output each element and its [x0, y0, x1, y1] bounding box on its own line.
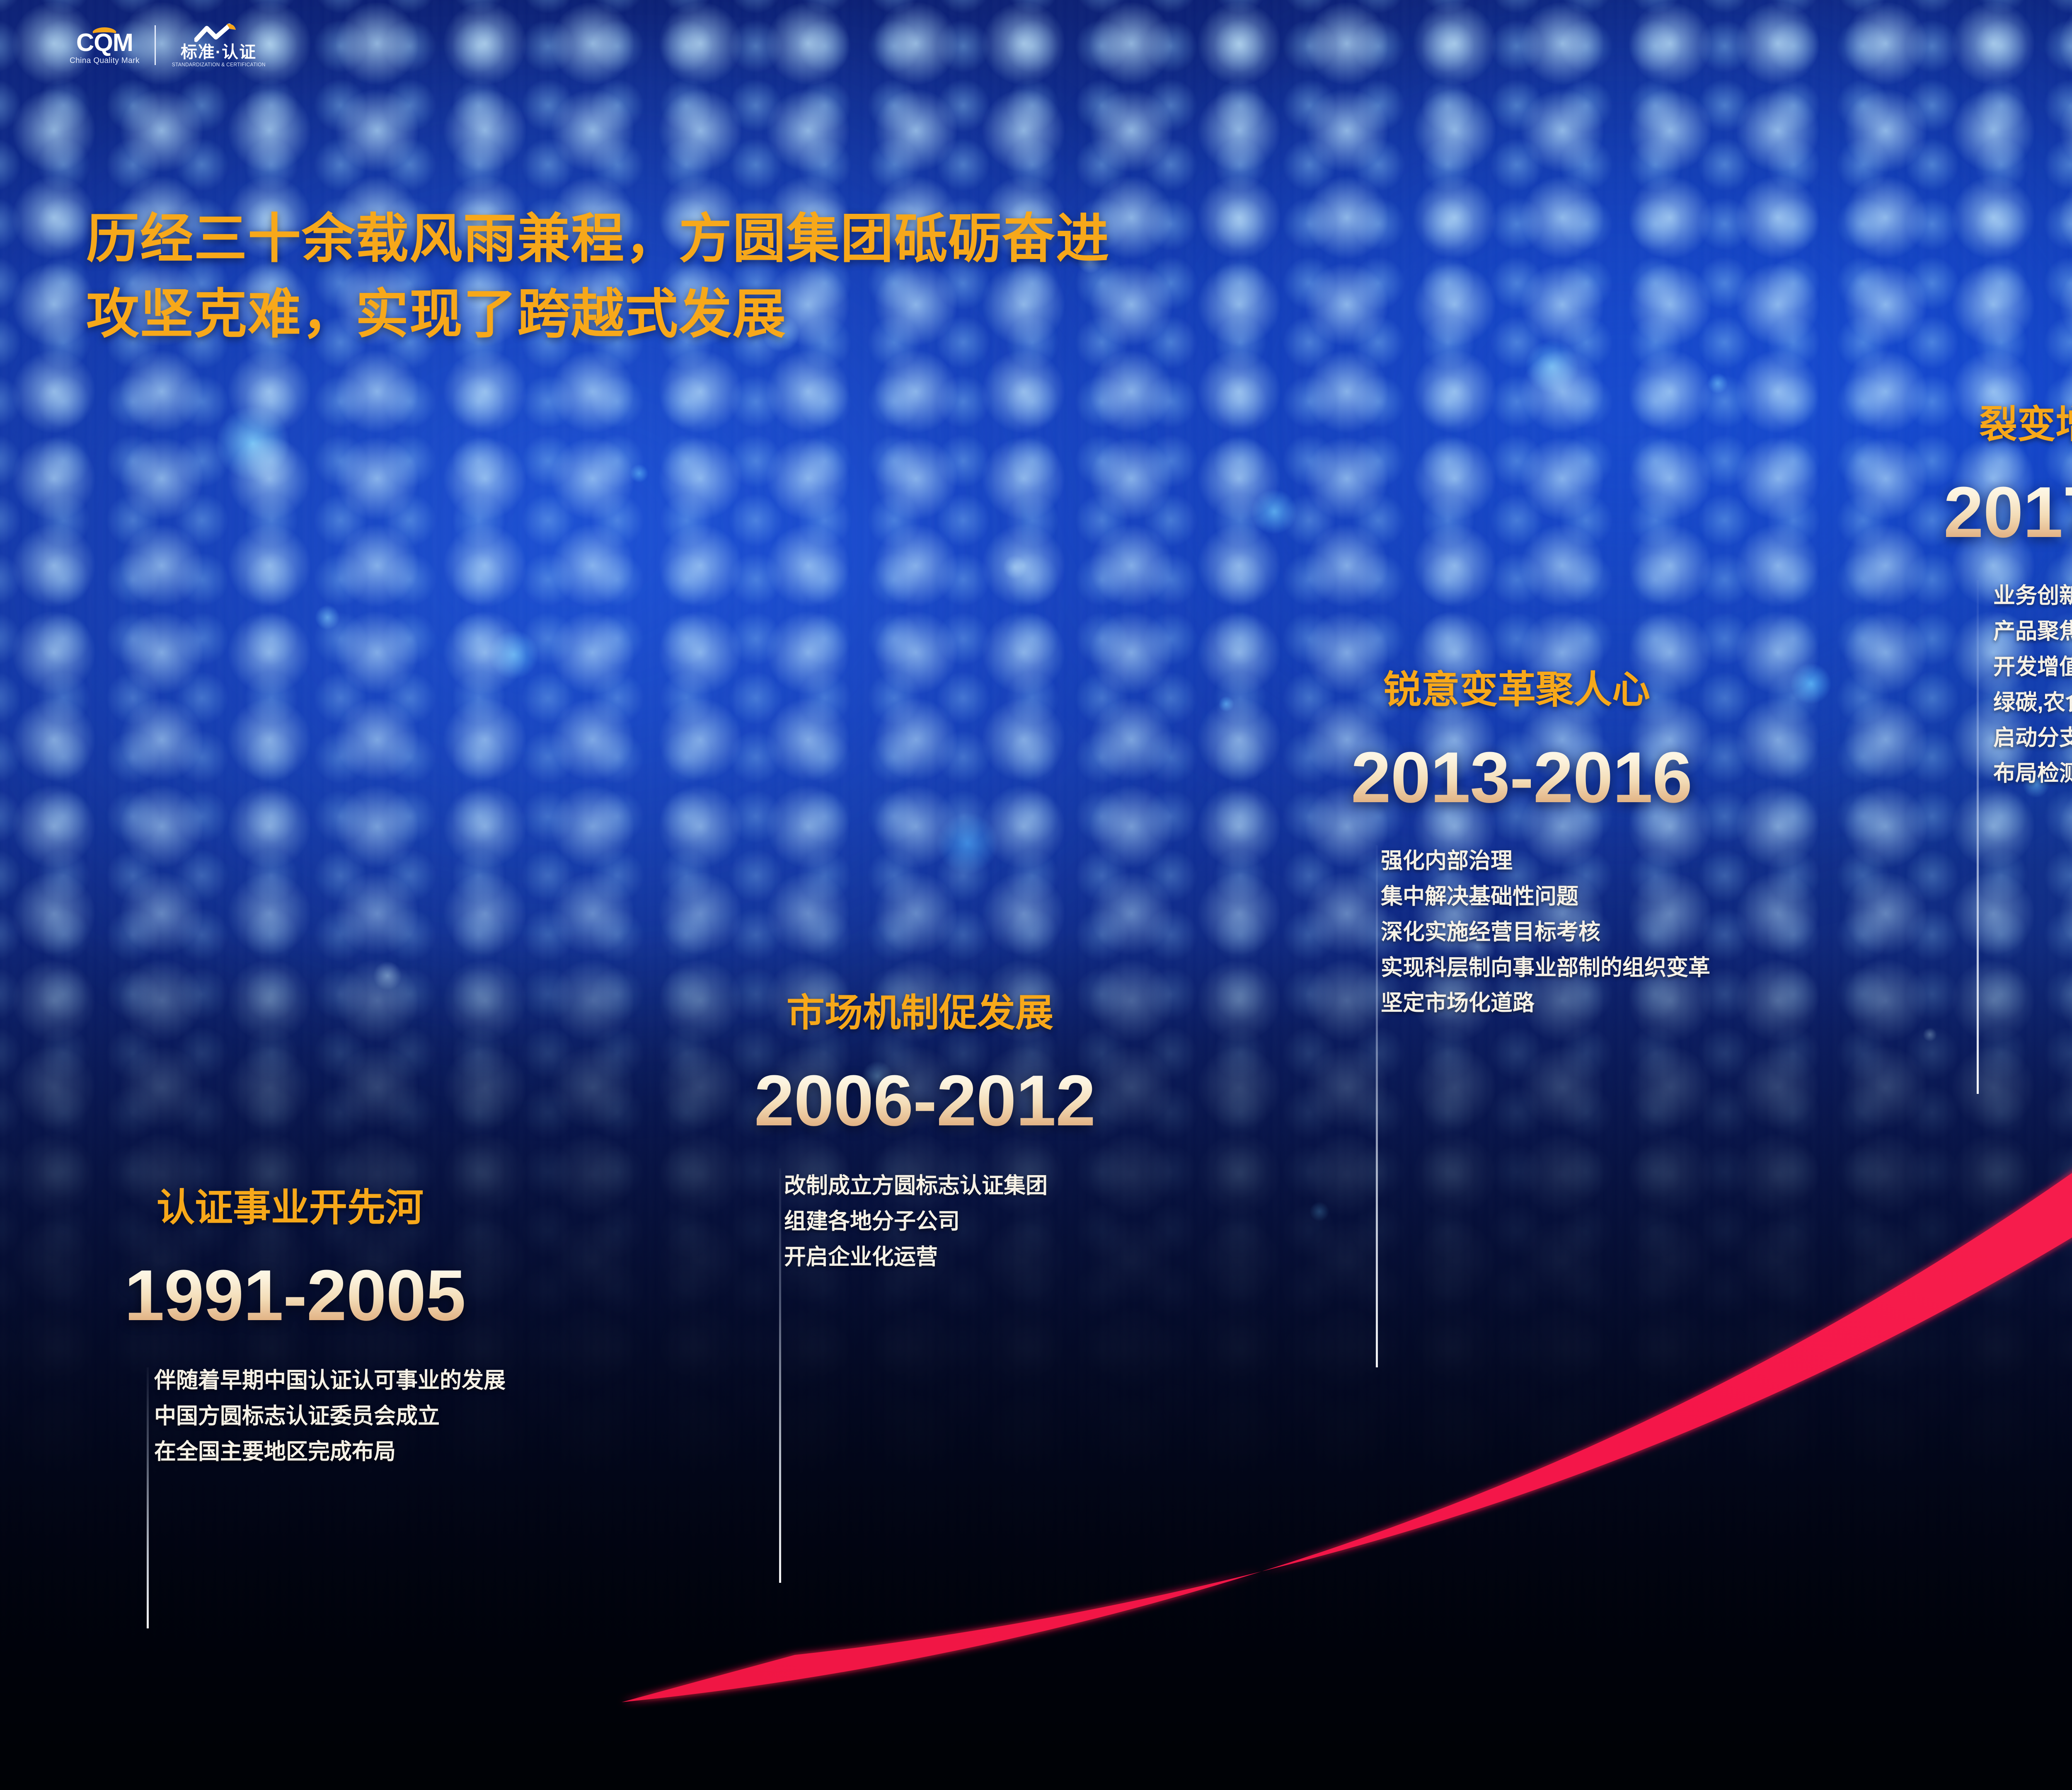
page-title: 历经三十余载风雨兼程，方圆集团砥砺奋进 攻坚克难，实现了跨越式发展	[86, 201, 1110, 352]
stage-2-bullet-3: 开启企业化运营	[784, 1239, 1095, 1275]
stage-3-bullets: 强化内部治理 集中解决基础性问题 深化实施经营目标考核 实现科层制向事业部制的组…	[1381, 843, 1710, 1021]
headline-line-1: 历经三十余载风雨兼程，方圆集团砥砺奋进	[86, 201, 1110, 277]
stage-3-bullet-2: 集中解决基础性问题	[1381, 879, 1710, 914]
cqm-arc-icon	[92, 27, 117, 38]
stage-4-bullets: 业务创新实现两个转型 产品聚焦高端品质认证 开发增值服务产品 绿碳,农食,防爆专…	[1993, 578, 2072, 791]
stage-3-bullet-5: 坚定市场化道路	[1381, 985, 1710, 1021]
stage-1-bullet-1: 伴随着早期中国认证认可事业的发展	[154, 1363, 506, 1398]
stage-2-bullets: 改制成立方圆标志认证集团 组建各地分子公司 开启企业化运营	[784, 1168, 1095, 1275]
stage-2-years: 2006-2012	[754, 1064, 1095, 1137]
standard-certification-cn: 标准·认证	[181, 44, 257, 60]
timeline-stage-1[interactable]: 认证事业开先河 1991-2005 伴随着早期中国认证认可事业的发展 中国方圆标…	[124, 1177, 506, 1470]
stage-2-title: 市场机制促发展	[787, 982, 1095, 1037]
standard-certification-en: STANDARDIZATION & CERTIFICATION	[172, 62, 265, 68]
stage-1-bullet-3: 在全国主要地区完成布局	[154, 1434, 506, 1470]
stage-2-bullet-2: 组建各地分子公司	[784, 1204, 1095, 1239]
timeline-stage-2[interactable]: 市场机制促发展 2006-2012 改制成立方圆标志认证集团 组建各地分子公司 …	[754, 982, 1095, 1275]
stage-4-bullet-3: 开发增值服务产品	[1993, 649, 2072, 685]
stage-4-bullet-5: 启动分支专业化裂变	[1993, 720, 2072, 756]
stage-2-connector-line	[779, 1168, 781, 1583]
stage-3-bullet-4: 实现科层制向事业部制的组织变革	[1381, 950, 1710, 986]
stage-3-connector-line	[1376, 845, 1378, 1367]
growth-chart-icon	[194, 23, 243, 43]
stage-3-bullet-1: 强化内部治理	[1381, 843, 1710, 879]
stage-1-years: 1991-2005	[124, 1259, 506, 1331]
stage-4-bullet-6: 布局检测业务	[1993, 756, 2072, 791]
stage-4-bullet-1: 业务创新实现两个转型	[1993, 578, 2072, 614]
brand-logo[interactable]: CQM China Quality Mark 标准·认证 STANDARDIZA…	[70, 18, 267, 72]
stage-1-title: 认证事业开先河	[157, 1177, 506, 1232]
stage-4-title: 裂变增长立潮头	[1979, 394, 2072, 449]
stage-3-years: 2013-2016	[1351, 741, 1710, 813]
stage-4-bullet-4: 绿碳,农食,防爆专业化布局	[1993, 685, 2072, 721]
stage-1-bullet-2: 中国方圆标志认证委员会成立	[154, 1398, 506, 1434]
cqm-logo: CQM China Quality Mark	[70, 25, 140, 65]
stage-1-bullets: 伴随着早期中国认证认可事业的发展 中国方圆标志认证委员会成立 在全国主要地区完成…	[154, 1363, 506, 1470]
timeline-stage-3[interactable]: 锐意变革聚人心 2013-2016 强化内部治理 集中解决基础性问题 深化实施经…	[1351, 659, 1710, 1021]
headline-line-2: 攻坚克难，实现了跨越式发展	[86, 277, 1110, 352]
stage-4-connector-line	[1977, 580, 1979, 1094]
timeline-stage-4[interactable]: 裂变增长立潮头 2017-2022 业务创新实现两个转型 产品聚焦高端品质认证 …	[1931, 394, 2072, 791]
slide-canvas: CQM China Quality Mark 标准·认证 STANDARDIZA…	[0, 0, 2072, 1790]
stage-2-bullet-1: 改制成立方圆标志认证集团	[784, 1168, 1095, 1204]
standard-certification-logo: 标准·认证 STANDARDIZATION & CERTIFICATION	[170, 23, 267, 68]
stage-3-title: 锐意变革聚人心	[1383, 659, 1710, 714]
stage-1-connector-line	[147, 1367, 149, 1628]
cqm-subtitle: China Quality Mark	[70, 56, 140, 65]
stage-3-bullet-3: 深化实施经营目标考核	[1381, 914, 1710, 950]
logo-divider	[155, 25, 156, 65]
stage-4-bullet-2: 产品聚焦高端品质认证	[1993, 614, 2072, 649]
stage-4-years: 2017-2022	[1944, 476, 2072, 548]
